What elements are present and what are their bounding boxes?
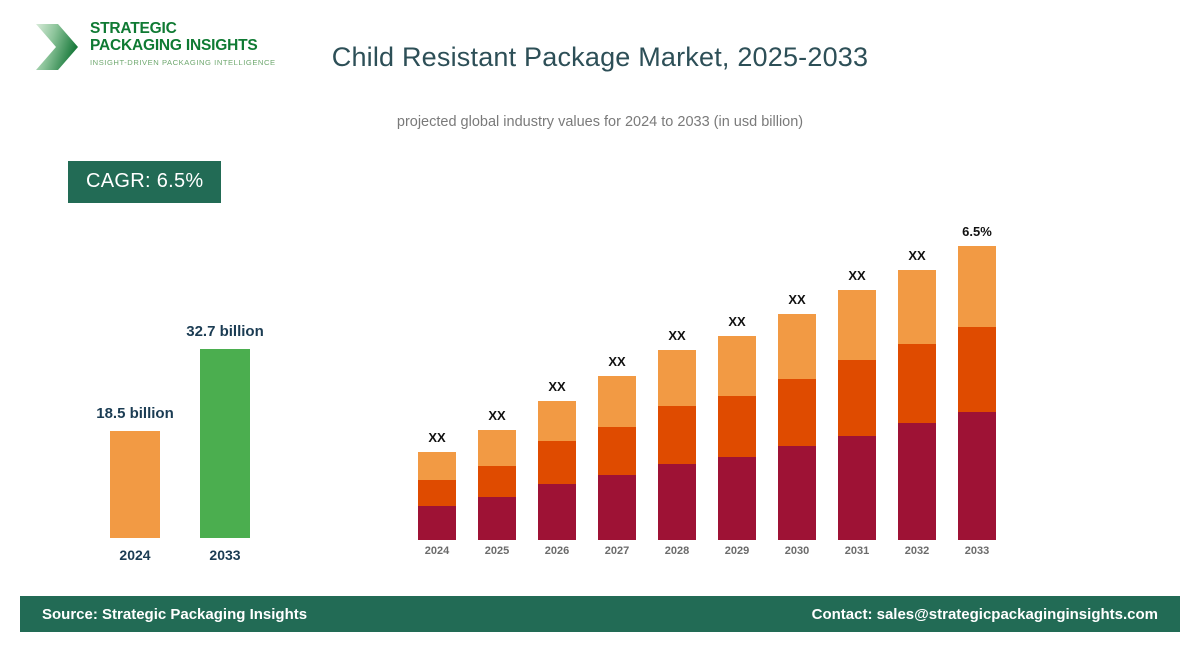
comparison-bar-2024: 18.5 billion2024 <box>110 431 160 538</box>
bar-category-label: 2033 <box>209 547 240 563</box>
stack-segment-segment-bottom <box>958 412 996 540</box>
stacked-bar-category-label: 2026 <box>545 545 569 557</box>
comparison-bar-chart: 18.5 billion202432.7 billion2033 <box>55 300 275 570</box>
stacked-bar-category-label: 2027 <box>605 545 629 557</box>
stacked-bar-2029: XX2029 <box>718 336 756 540</box>
stack-segment-segment-top <box>538 401 576 441</box>
footer-contact: Contact: sales@strategicpackaginginsight… <box>812 606 1158 623</box>
stacked-bar-2033: 6.5%2033 <box>958 246 996 540</box>
stack-segment-segment-top <box>838 290 876 360</box>
stack-segment-segment-top <box>958 246 996 327</box>
comparison-bar-2033: 32.7 billion2033 <box>200 349 250 538</box>
bar-rect <box>200 349 250 538</box>
stack-segment-segment-middle <box>898 344 936 423</box>
bar-rect <box>110 431 160 538</box>
stacked-bar-category-label: 2032 <box>905 545 929 557</box>
stack-column <box>778 314 816 540</box>
stacked-bar-category-label: 2024 <box>425 545 449 557</box>
forecast-stacked-bar-chart: XX2024XX2025XX2026XX2027XX2028XX2029XX20… <box>405 200 1025 570</box>
stacked-bar-category-label: 2025 <box>485 545 509 557</box>
stacked-bar-2028: XX2028 <box>658 350 696 540</box>
stack-segment-segment-bottom <box>478 497 516 540</box>
stacked-bar-value-label: XX <box>848 268 865 283</box>
page-title: Child Resistant Package Market, 2025-203… <box>0 42 1200 73</box>
stack-segment-segment-bottom <box>658 464 696 540</box>
stacked-bar-value-label: XX <box>428 430 445 445</box>
stacked-bar-2031: XX2031 <box>838 290 876 540</box>
stacked-bar-2025: XX2025 <box>478 430 516 540</box>
cagr-badge: CAGR: 6.5% <box>68 161 221 203</box>
footer-source: Source: Strategic Packaging Insights <box>42 606 307 623</box>
stacked-bar-value-label: XX <box>608 354 625 369</box>
stack-segment-segment-top <box>718 336 756 396</box>
stacked-bar-category-label: 2031 <box>845 545 869 557</box>
stack-segment-segment-bottom <box>778 446 816 540</box>
stacked-bar-2026: XX2026 <box>538 401 576 540</box>
stacked-bar-2032: XX2032 <box>898 270 936 540</box>
stacked-bar-category-label: 2029 <box>725 545 749 557</box>
stacked-bar-value-label: XX <box>488 408 505 423</box>
stack-column <box>598 376 636 540</box>
stack-column <box>898 270 936 540</box>
stack-column <box>538 401 576 540</box>
stacked-bar-value-label: XX <box>788 292 805 307</box>
stack-segment-segment-top <box>658 350 696 406</box>
stack-column <box>658 350 696 540</box>
page-subtitle: projected global industry values for 202… <box>0 114 1200 130</box>
stack-segment-segment-bottom <box>598 475 636 540</box>
stacked-bar-2027: XX2027 <box>598 376 636 540</box>
stack-segment-segment-top <box>778 314 816 379</box>
stacked-bar-category-label: 2028 <box>665 545 689 557</box>
brand-name-line1: STRATEGIC <box>90 20 276 37</box>
stack-segment-segment-middle <box>778 379 816 446</box>
stack-column <box>478 430 516 540</box>
stacked-bar-category-label: 2030 <box>785 545 809 557</box>
stack-column <box>718 336 756 540</box>
stack-segment-segment-top <box>898 270 936 344</box>
bar-category-label: 2024 <box>119 547 150 563</box>
stacked-bar-2030: XX2030 <box>778 314 816 540</box>
stack-segment-segment-bottom <box>718 457 756 540</box>
stacked-bar-value-label: 6.5% <box>962 224 992 239</box>
stack-segment-segment-bottom <box>838 436 876 540</box>
stacked-bar-2024: XX2024 <box>418 452 456 540</box>
stack-segment-segment-bottom <box>418 506 456 540</box>
stack-segment-segment-middle <box>658 406 696 464</box>
stack-segment-segment-bottom <box>898 423 936 540</box>
stack-segment-segment-middle <box>418 480 456 506</box>
stacked-bar-value-label: XX <box>728 314 745 329</box>
footer-bar: Source: Strategic Packaging Insights Con… <box>20 596 1180 632</box>
stack-segment-segment-top <box>418 452 456 480</box>
stack-segment-segment-top <box>598 376 636 427</box>
stack-segment-segment-middle <box>478 466 516 497</box>
stack-column <box>838 290 876 540</box>
stack-segment-segment-top <box>478 430 516 466</box>
stacked-bar-value-label: XX <box>548 379 565 394</box>
stacked-bar-value-label: XX <box>668 328 685 343</box>
stack-segment-segment-middle <box>838 360 876 436</box>
bar-value-label: 32.7 billion <box>186 323 264 340</box>
bar-value-label: 18.5 billion <box>96 405 174 422</box>
stacked-bar-category-label: 2033 <box>965 545 989 557</box>
stack-segment-segment-bottom <box>538 484 576 540</box>
stack-segment-segment-middle <box>958 327 996 412</box>
stack-segment-segment-middle <box>718 396 756 457</box>
stack-column <box>958 246 996 540</box>
stack-column <box>418 452 456 540</box>
stack-segment-segment-middle <box>598 427 636 475</box>
stacked-bar-value-label: XX <box>908 248 925 263</box>
stack-segment-segment-middle <box>538 441 576 484</box>
